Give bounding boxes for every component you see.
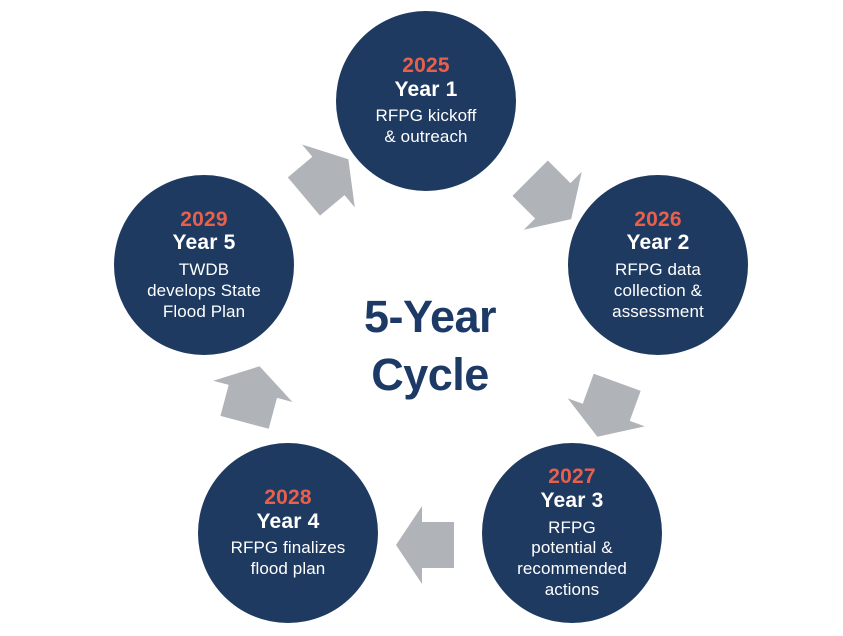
node-year-2027: 2027 — [548, 465, 596, 489]
center-title-line2: Cycle — [300, 346, 560, 404]
node-description-year-1: RFPG kickoff & outreach — [375, 106, 476, 147]
center-title-line1: 5-Year — [300, 288, 560, 346]
cycle-node-year-4[interactable]: 2028 Year 4 RFPG finalizes flood plan — [198, 443, 378, 623]
cycle-node-year-1[interactable]: 2025 Year 1 RFPG kickoff & outreach — [336, 11, 516, 191]
arrow-year2-to-year3-icon — [565, 357, 655, 447]
node-year-2025: 2025 — [402, 54, 450, 78]
cycle-diagram: 5-Year Cycle 2025 Year 1 RFPG kickoff & … — [0, 0, 843, 636]
node-year-2026: 2026 — [634, 208, 682, 232]
node-year-2029: 2029 — [180, 208, 228, 232]
node-description-year-3: RFPG potential & recommended actions — [517, 518, 627, 601]
node-description-year-2: RFPG data collection & assessment — [612, 260, 704, 322]
cycle-node-year-5[interactable]: 2029 Year 5 TWDB develops State Flood Pl… — [114, 175, 294, 355]
arrow-year4-to-year5-icon — [205, 357, 295, 447]
arrow-year3-to-year4-icon — [388, 500, 478, 590]
node-label-year-4: Year 4 — [256, 510, 319, 534]
center-title: 5-Year Cycle — [300, 288, 560, 403]
cycle-node-year-2[interactable]: 2026 Year 2 RFPG data collection & asses… — [568, 175, 748, 355]
node-description-year-4: RFPG finalizes flood plan — [231, 538, 346, 579]
node-label-year-2: Year 2 — [626, 231, 689, 255]
node-description-year-5: TWDB develops State Flood Plan — [147, 260, 261, 322]
cycle-node-year-3[interactable]: 2027 Year 3 RFPG potential & recommended… — [482, 443, 662, 623]
node-year-2028: 2028 — [264, 486, 312, 510]
node-label-year-5: Year 5 — [172, 231, 235, 255]
node-label-year-3: Year 3 — [540, 489, 603, 513]
node-label-year-1: Year 1 — [394, 78, 457, 102]
